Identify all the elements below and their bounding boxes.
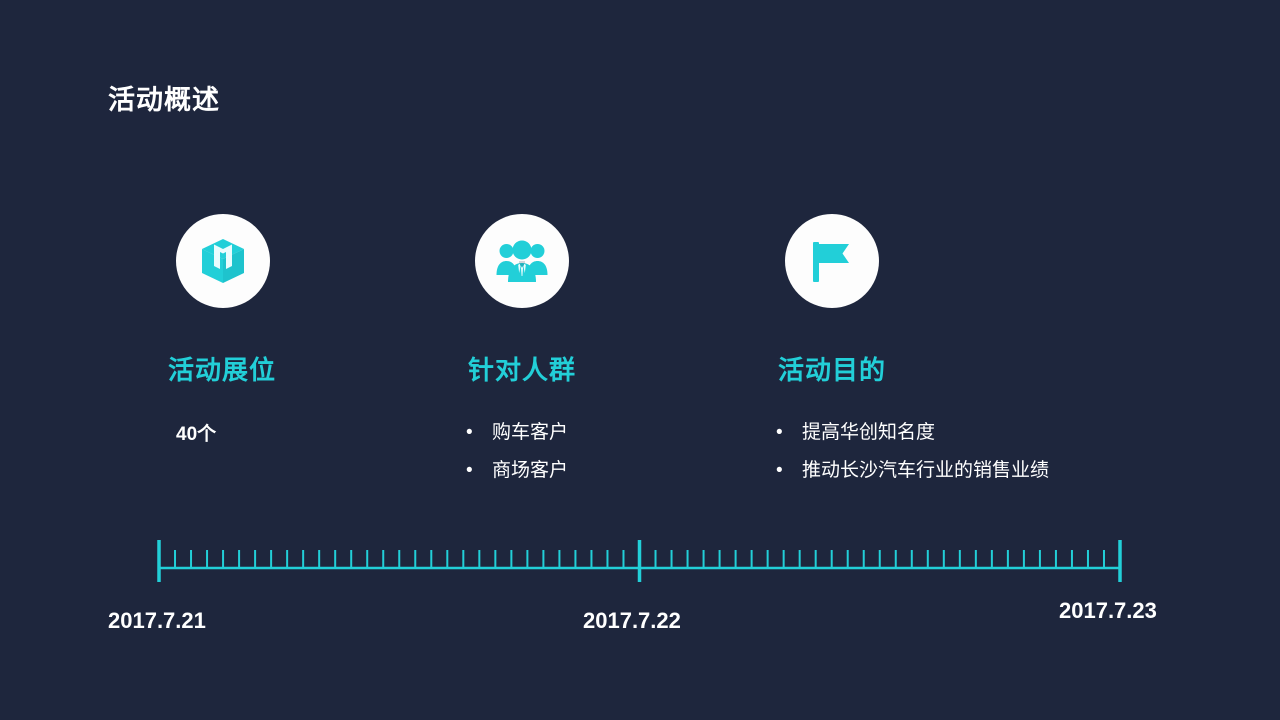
timeline-date-middle: 2017.7.22 xyxy=(583,608,681,634)
icon-badge-flag xyxy=(785,214,879,308)
page-title: 活动概述 xyxy=(108,84,220,116)
audience-bullet-list: • 购车客户 • 商场客户 xyxy=(466,414,568,490)
bullet-text: 推动长沙汽车行业的销售业绩 xyxy=(802,452,1049,490)
overview-column-booth: 活动展位 40个 xyxy=(108,214,408,308)
overview-column-audience: 针对人群 • 购车客户 • 商场客户 xyxy=(408,214,708,308)
bullet-text: 商场客户 xyxy=(492,452,568,490)
bullet-text: 购车客户 xyxy=(492,414,568,452)
booth-count-value: 40个 xyxy=(176,419,216,446)
icon-badge-people xyxy=(475,214,569,308)
bullet-marker-icon: • xyxy=(466,414,492,452)
icon-badge-box xyxy=(176,214,270,308)
column-heading-audience: 针对人群 xyxy=(468,350,576,387)
list-item: • 提高华创知名度 xyxy=(776,414,1049,452)
box-icon xyxy=(200,237,246,285)
column-heading-booth: 活动展位 xyxy=(168,350,276,387)
list-item: • 推动长沙汽车行业的销售业绩 xyxy=(776,452,1049,490)
goal-bullet-list: • 提高华创知名度 • 推动长沙汽车行业的销售业绩 xyxy=(776,414,1049,490)
slide-canvas: 活动概述 活动展位 40个 xyxy=(0,0,1280,720)
bullet-text: 提高华创知名度 xyxy=(802,414,935,452)
timeline-date-start: 2017.7.21 xyxy=(108,608,206,634)
list-item: • 商场客户 xyxy=(466,452,568,490)
overview-column-goal: 活动目的 • 提高华创知名度 • 推动长沙汽车行业的销售业绩 xyxy=(718,214,1188,308)
flag-icon xyxy=(808,237,856,285)
bullet-marker-icon: • xyxy=(776,452,802,490)
bullet-marker-icon: • xyxy=(466,452,492,490)
people-group-icon xyxy=(496,239,548,283)
column-heading-goal: 活动目的 xyxy=(778,350,886,387)
timeline-date-end: 2017.7.23 xyxy=(1059,598,1157,624)
list-item: • 购车客户 xyxy=(466,414,568,452)
bullet-marker-icon: • xyxy=(776,414,802,452)
